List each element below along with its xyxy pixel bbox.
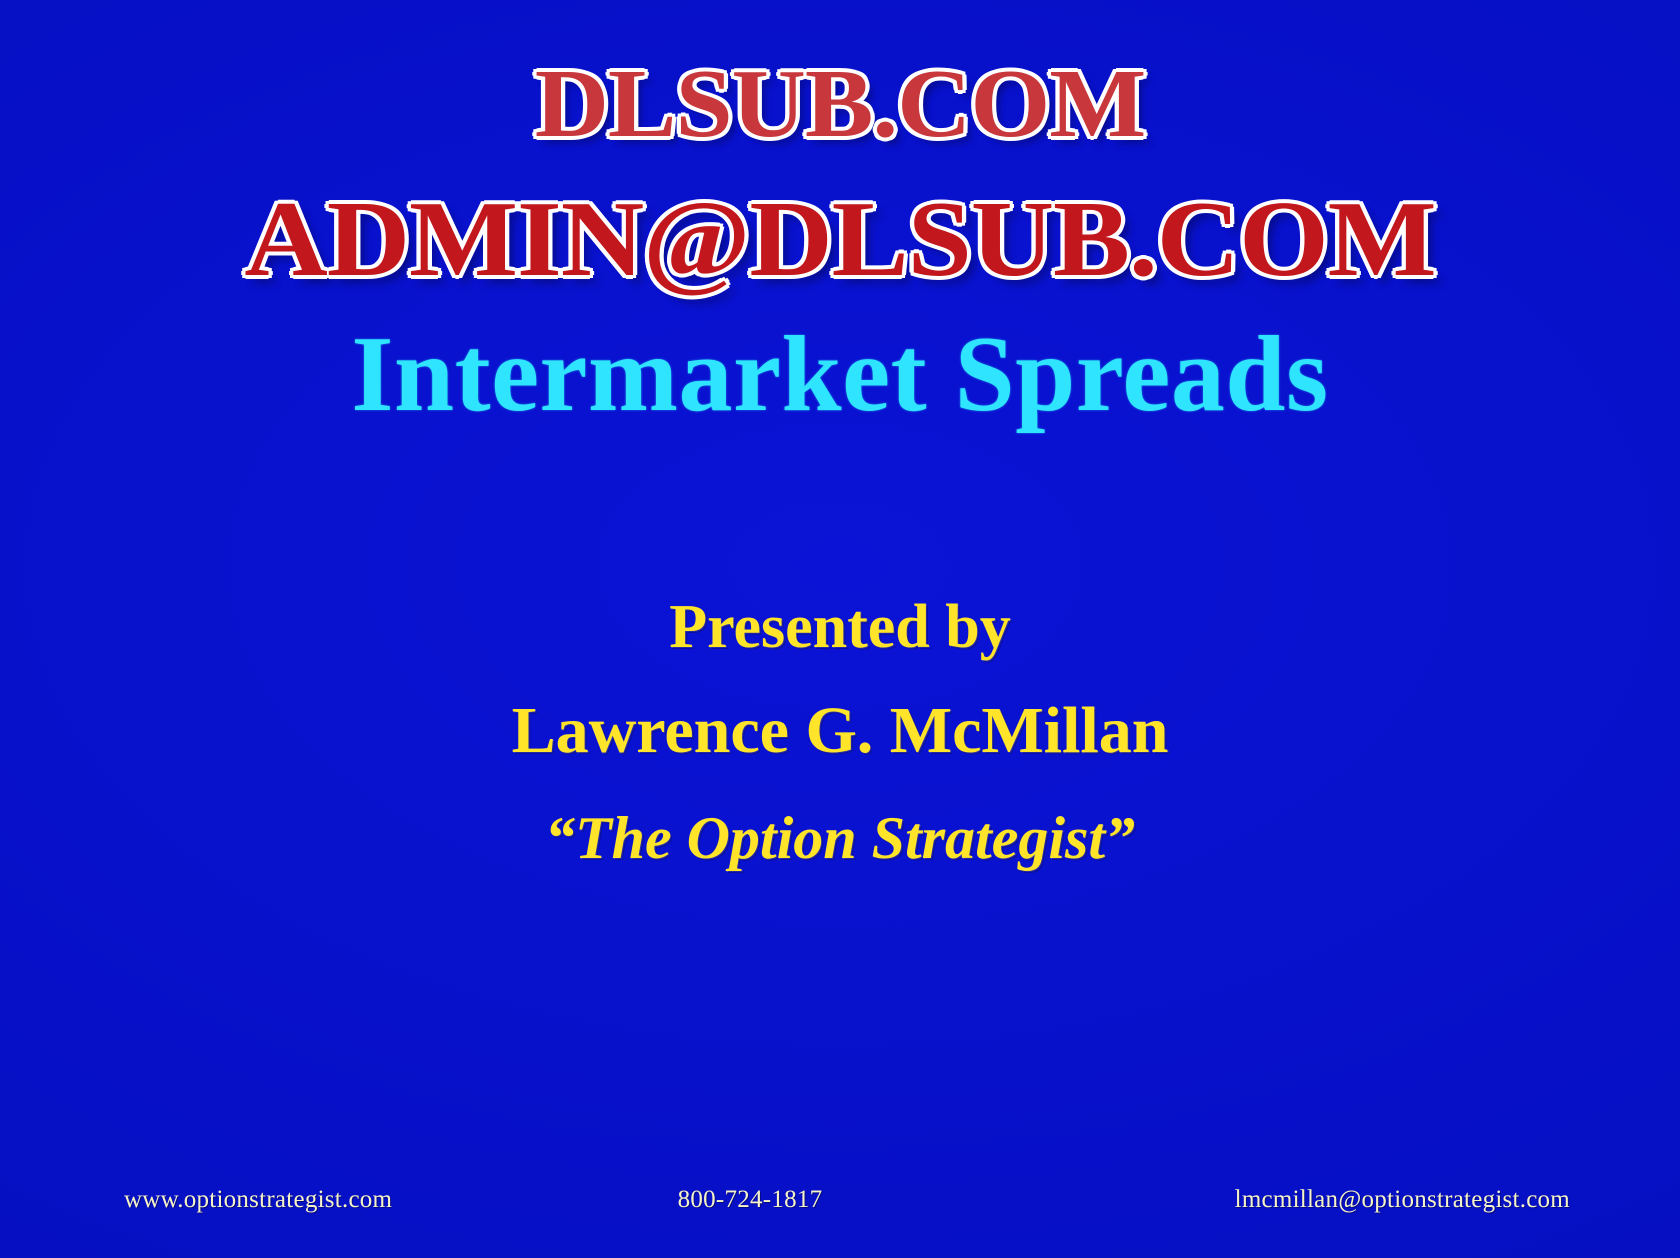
watermark-overlay: DLSUB.COM ADMIN@DLSUB.COM [0, 0, 1680, 320]
presenter-block: Presented by Lawrence G. McMillan “The O… [0, 596, 1680, 873]
presenter-tagline: “The Option Strategist” [0, 804, 1680, 873]
watermark-site-text: DLSUB.COM [0, 55, 1680, 152]
watermark-email-text: ADMIN@DLSUB.COM [0, 186, 1680, 294]
footer-phone: 800-724-1817 [678, 1186, 823, 1214]
footer-website: www.optionstrategist.com [124, 1186, 392, 1214]
page-title: Intermarket Spreads [0, 318, 1680, 432]
slide-footer: www.optionstrategist.com 800-724-1817 lm… [0, 1184, 1680, 1216]
presenter-name: Lawrence G. McMillan [0, 698, 1680, 764]
footer-email: lmcmillan@optionstrategist.com [1235, 1186, 1570, 1214]
presented-by-label: Presented by [0, 596, 1680, 658]
presentation-slide: DLSUB.COM ADMIN@DLSUB.COM Intermarket Sp… [0, 0, 1680, 1258]
